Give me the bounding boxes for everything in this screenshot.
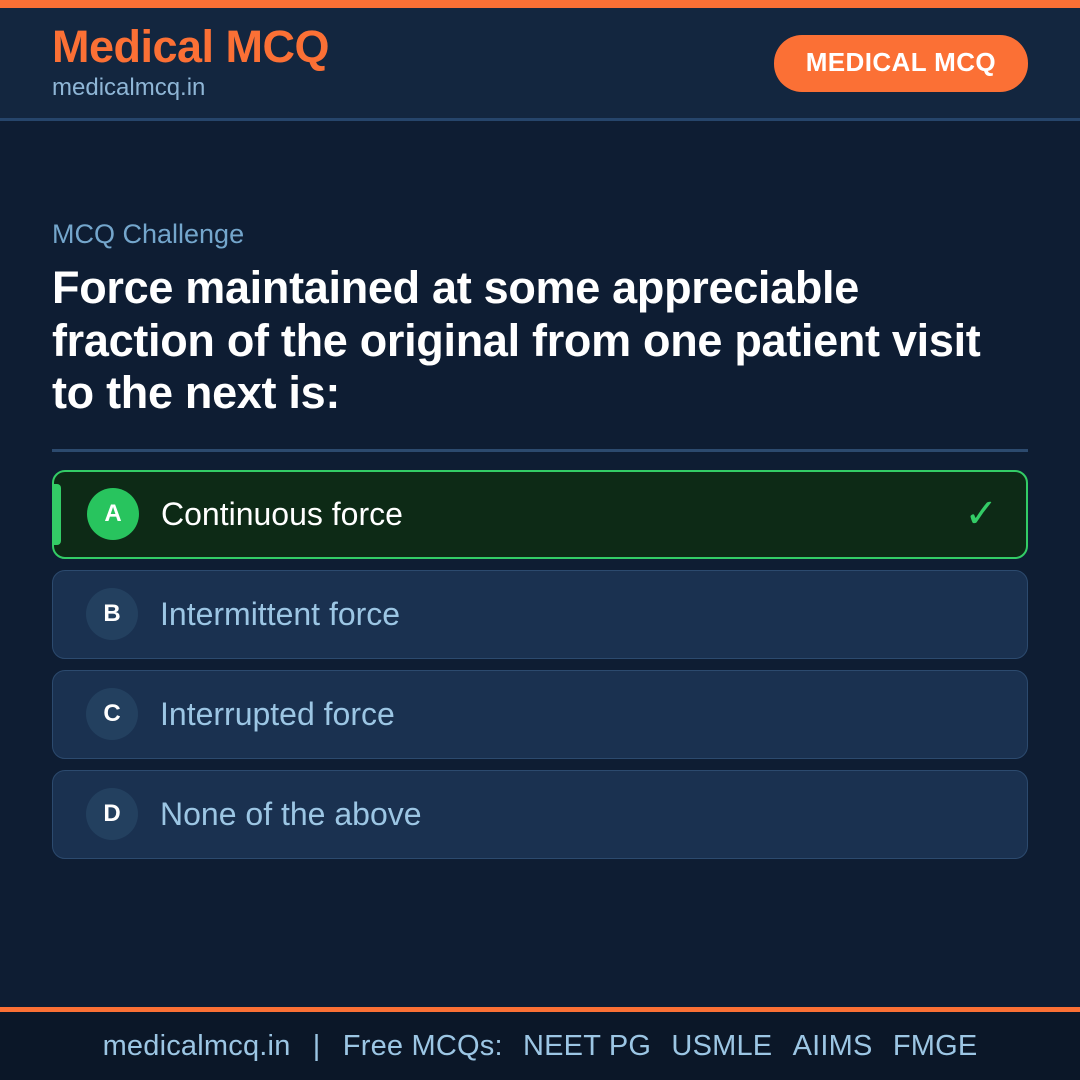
footer-tag-neet-pg[interactable]: NEET PG bbox=[523, 1030, 651, 1062]
option-a-label: Continuous force bbox=[161, 497, 403, 532]
option-b-letter-badge: B bbox=[86, 588, 138, 640]
brand-block: Medical MCQ medicalmcq.in bbox=[52, 24, 329, 103]
option-c-letter-badge: C bbox=[86, 688, 138, 740]
footer-tag-fmge[interactable]: FMGE bbox=[893, 1030, 978, 1062]
top-accent-bar bbox=[0, 0, 1080, 8]
brand-title: Medical MCQ bbox=[52, 24, 329, 71]
option-c[interactable]: C Interrupted force bbox=[52, 670, 1028, 759]
option-b[interactable]: B Intermittent force bbox=[52, 570, 1028, 659]
option-d[interactable]: D None of the above bbox=[52, 770, 1028, 859]
check-icon: ✓ bbox=[964, 494, 998, 534]
brand-subtitle: medicalmcq.in bbox=[52, 74, 329, 103]
correct-accent-bar bbox=[54, 484, 61, 545]
footer: medicalmcq.in | Free MCQs: NEET PG USMLE… bbox=[0, 1012, 1080, 1080]
footer-tag-aiims[interactable]: AIIMS bbox=[793, 1030, 873, 1062]
main-content: MCQ Challenge Force maintained at some a… bbox=[0, 121, 1080, 1007]
options-list: A Continuous force ✓ B Intermittent forc… bbox=[52, 470, 1028, 859]
header-badge[interactable]: MEDICAL MCQ bbox=[774, 35, 1028, 92]
section-divider bbox=[52, 449, 1028, 452]
eyebrow-label: MCQ Challenge bbox=[52, 218, 1028, 250]
footer-separator: | bbox=[299, 1030, 335, 1062]
option-d-label: None of the above bbox=[160, 797, 422, 832]
footer-label: Free MCQs: bbox=[343, 1030, 503, 1062]
option-b-label: Intermittent force bbox=[160, 597, 400, 632]
header: Medical MCQ medicalmcq.in MEDICAL MCQ bbox=[0, 8, 1080, 121]
footer-text: medicalmcq.in | Free MCQs: NEET PG USMLE… bbox=[103, 1030, 978, 1063]
footer-tag-usmle[interactable]: USMLE bbox=[671, 1030, 772, 1062]
option-d-letter-badge: D bbox=[86, 788, 138, 840]
option-a-letter-badge: A bbox=[87, 488, 139, 540]
option-a[interactable]: A Continuous force ✓ bbox=[52, 470, 1028, 559]
footer-site[interactable]: medicalmcq.in bbox=[103, 1030, 291, 1062]
option-c-label: Interrupted force bbox=[160, 697, 395, 732]
question-text: Force maintained at some appreciable fra… bbox=[52, 262, 1012, 419]
mcq-card: Medical MCQ medicalmcq.in MEDICAL MCQ MC… bbox=[0, 0, 1080, 1080]
